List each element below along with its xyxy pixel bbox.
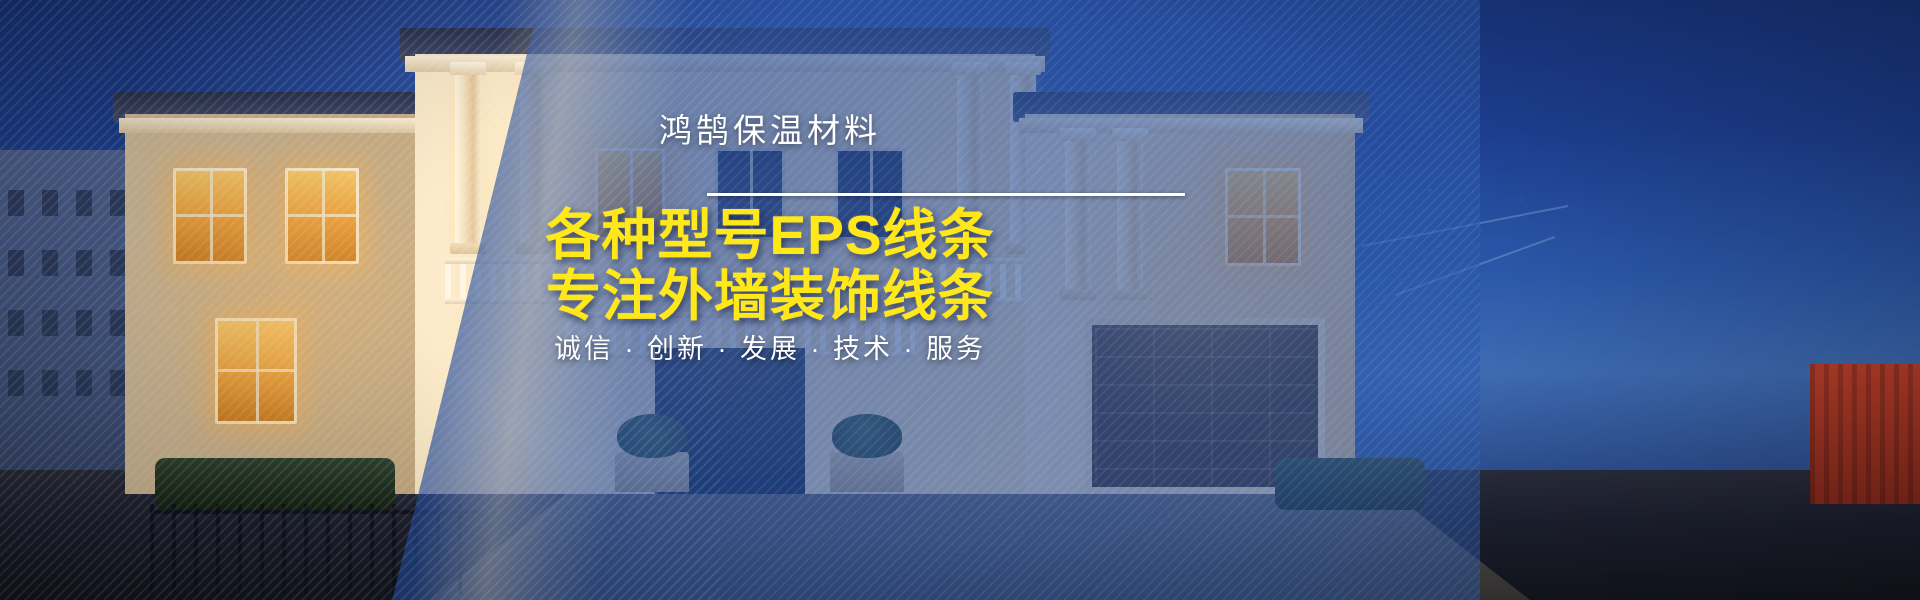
hero-banner: 鸿鹄保温材料 各种型号EPS线条 专注外墙装饰线条 诚信 · 创新 · 发展 ·…: [0, 0, 1920, 600]
tagline: 诚信 · 创新 · 发展 · 技术 · 服务: [360, 327, 1180, 366]
headline-line-2: 专注外墙装饰线条: [330, 251, 1210, 331]
brand-name: 鸿鹄保温材料: [360, 104, 1180, 152]
banner-copy: 鸿鹄保温材料 各种型号EPS线条 专注外墙装饰线条 诚信 · 创新 · 发展 ·…: [0, 0, 1920, 600]
